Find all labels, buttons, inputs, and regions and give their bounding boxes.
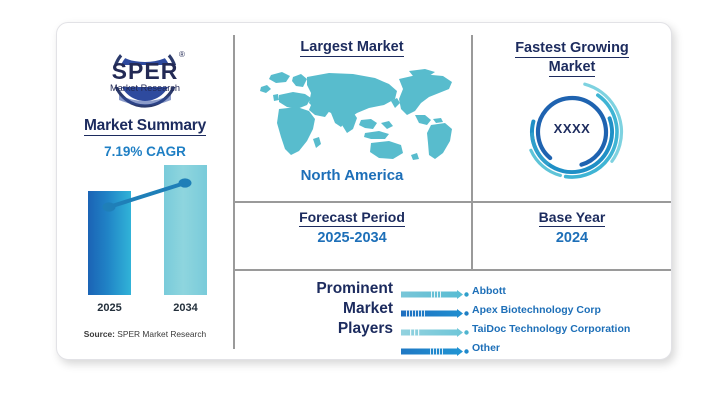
list-item: Apex Biotechnology Corp bbox=[401, 300, 671, 319]
player-bar-svg-1 bbox=[401, 309, 469, 318]
fastest-growing-value: XXXX bbox=[519, 121, 625, 136]
player-name: TaiDoc Technology Corporation bbox=[472, 323, 630, 335]
player-bar-svg-0 bbox=[401, 290, 469, 299]
players-title-line1: Prominent bbox=[316, 280, 393, 297]
trend-line bbox=[57, 171, 233, 321]
bar-label-2025: 2025 bbox=[88, 302, 131, 314]
divider-horizontal-upper bbox=[233, 201, 672, 203]
player-bar-icon bbox=[401, 324, 469, 333]
list-item: Abbott bbox=[401, 281, 671, 300]
sper-logo: SPER Market Research ® bbox=[87, 37, 203, 113]
player-bar-icon bbox=[401, 343, 469, 352]
base-year-heading: Base Year bbox=[471, 209, 672, 225]
player-name: Abbott bbox=[472, 285, 506, 297]
source-value: SPER Market Research bbox=[115, 329, 206, 339]
fastest-growing-heading-line1: Fastest Growing bbox=[515, 40, 629, 58]
list-item: TaiDoc Technology Corporation bbox=[401, 319, 671, 338]
sper-logo-svg: SPER Market Research ® bbox=[87, 37, 203, 113]
infographic-card: SPER Market Research ® Market Summary 7.… bbox=[56, 22, 672, 360]
divider-horizontal-lower bbox=[233, 269, 672, 271]
cagr-value: 7.19% CAGR bbox=[57, 144, 233, 159]
player-name: Apex Biotechnology Corp bbox=[472, 304, 601, 316]
forecast-period-value: 2025-2034 bbox=[233, 230, 471, 246]
players-title-line3: Players bbox=[338, 320, 393, 337]
svg-text:SPER: SPER bbox=[112, 58, 179, 84]
base-year-heading-text: Base Year bbox=[539, 209, 606, 227]
fastest-growing-heading-line2: Market bbox=[549, 59, 596, 77]
fastest-growing-heading: Fastest GrowingMarket bbox=[471, 39, 672, 77]
market-summary-heading: Market Summary bbox=[57, 117, 233, 135]
base-year-value: 2024 bbox=[471, 230, 672, 246]
player-bar-svg-2 bbox=[401, 328, 469, 337]
player-name: Other bbox=[472, 342, 500, 354]
prominent-players-title: ProminentMarketPlayers bbox=[233, 279, 393, 339]
market-summary-panel: SPER Market Research ® Market Summary 7.… bbox=[57, 23, 233, 360]
svg-text:Market Research: Market Research bbox=[110, 83, 180, 93]
world-map-icon bbox=[249, 65, 455, 161]
bar-label-2034: 2034 bbox=[164, 302, 207, 314]
player-bar-svg-3 bbox=[401, 347, 469, 356]
player-bar-icon bbox=[401, 305, 469, 314]
market-size-bar-chart: 2025 2034 bbox=[57, 171, 233, 321]
player-bar-icon bbox=[401, 286, 469, 295]
source-note: Source: SPER Market Research bbox=[57, 329, 233, 339]
svg-text:®: ® bbox=[179, 50, 185, 59]
prominent-players-list: Abbott Apex Biotechnology Corp bbox=[401, 281, 671, 357]
largest-market-heading: Largest Market bbox=[233, 39, 471, 55]
market-summary-heading-text: Market Summary bbox=[84, 117, 206, 136]
world-map-svg bbox=[249, 65, 455, 161]
players-title-line2: Market bbox=[343, 300, 393, 317]
list-item: Other bbox=[401, 338, 671, 357]
forecast-period-heading-text: Forecast Period bbox=[299, 209, 405, 227]
largest-market-value: North America bbox=[233, 167, 471, 184]
forecast-period-heading: Forecast Period bbox=[233, 209, 471, 225]
source-label: Source: bbox=[84, 329, 115, 339]
largest-market-heading-text: Largest Market bbox=[300, 39, 403, 57]
